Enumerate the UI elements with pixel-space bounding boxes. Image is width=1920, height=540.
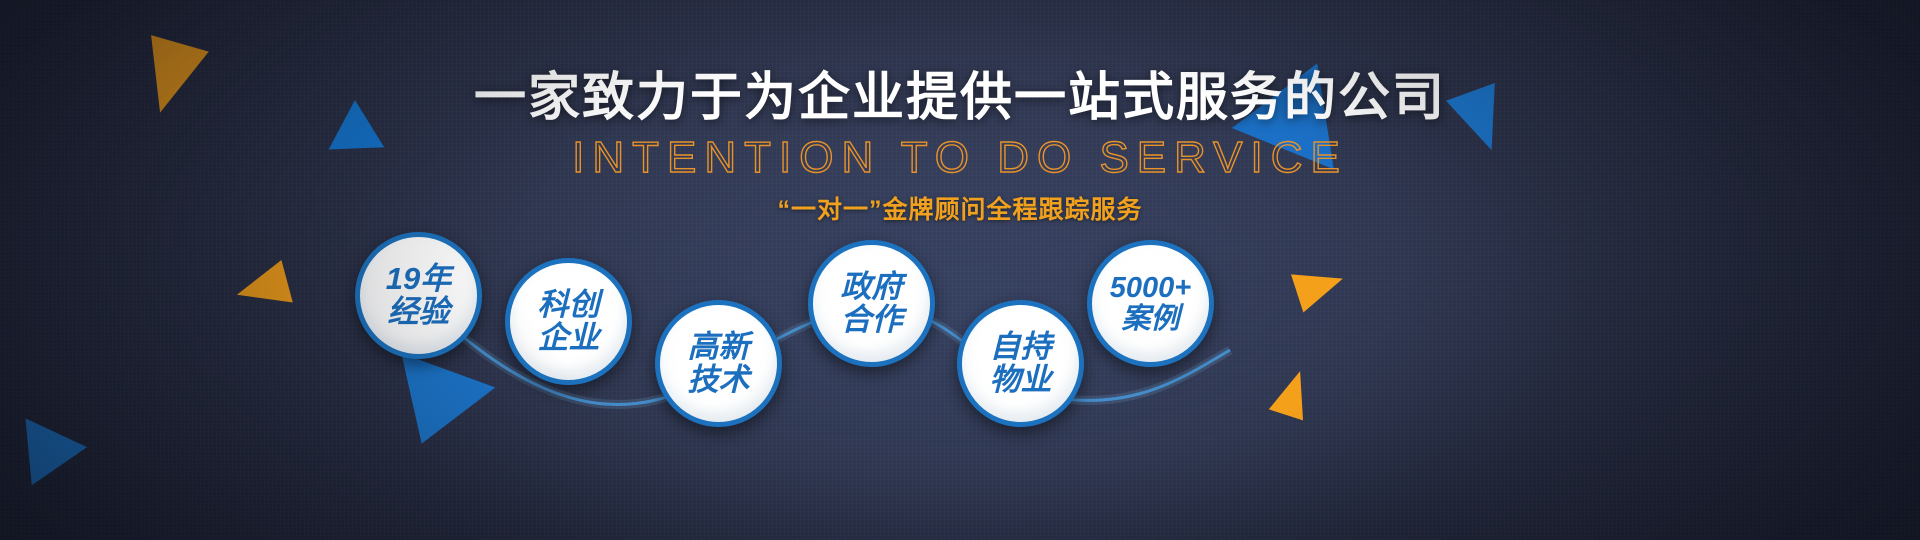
- bubble-cases[interactable]: 5000+ 案例: [1087, 240, 1214, 367]
- bubble-line1: 5000+: [1110, 273, 1191, 303]
- bubble-line2: 经验: [386, 296, 451, 328]
- bubble-hightech[interactable]: 高新 技术: [655, 300, 782, 427]
- bubble-line2: 合作: [841, 304, 903, 336]
- bubble-line2: 案例: [1110, 304, 1191, 334]
- bubble-experience[interactable]: 19年 经验: [355, 232, 482, 359]
- subtitle-chinese: “一对一”金牌顾问全程跟踪服务: [0, 198, 1920, 223]
- triangle-orange-mid-left: [231, 260, 293, 316]
- bubble-line1: 19年: [386, 263, 451, 295]
- bubble-line1: 科创: [538, 289, 600, 321]
- bubble-property[interactable]: 自持 物业: [957, 300, 1084, 427]
- triangle-blue-bottom-far-left: [1, 418, 87, 499]
- triangle-orange-right: [1291, 260, 1349, 313]
- bubble-government[interactable]: 政府 合作: [808, 240, 935, 367]
- promo-banner: 一家致力于为企业提供一站式服务的公司 INTENTION TO DO SERVI…: [0, 0, 1920, 540]
- bubble-line1: 高新: [688, 331, 750, 363]
- triangle-blue-bottom-left: [375, 353, 496, 460]
- subtitle-english: INTENTION TO DO SERVICE: [0, 136, 1920, 180]
- bubble-line1: 自持: [990, 331, 1052, 363]
- triangle-orange-bottom-right: [1269, 366, 1317, 421]
- bubble-line2: 企业: [538, 322, 600, 354]
- bubble-line2: 技术: [688, 364, 750, 396]
- bubble-innovation[interactable]: 科创 企业: [505, 258, 632, 385]
- page-title: 一家致力于为企业提供一站式服务的公司: [0, 72, 1920, 124]
- bubble-line2: 物业: [990, 364, 1052, 396]
- bubble-line1: 政府: [841, 271, 903, 303]
